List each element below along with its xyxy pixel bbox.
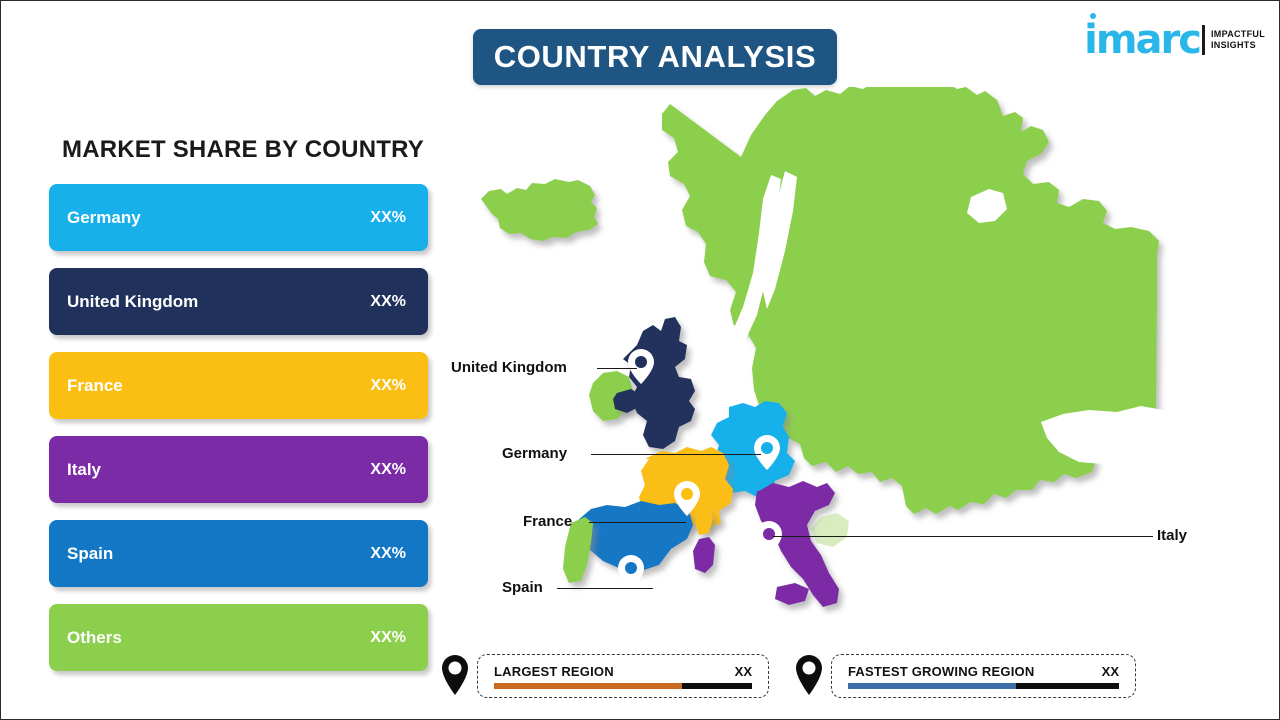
- map-region-united-kingdom: [623, 317, 695, 449]
- callout-france: France: [523, 513, 572, 530]
- largest-region-track: [494, 683, 752, 689]
- logo-tagline-line2: INSIGHTS: [1211, 40, 1265, 51]
- page-title: COUNTRY ANALYSIS: [473, 29, 837, 85]
- callout-germany: Germany: [502, 445, 567, 462]
- list-item-label: United Kingdom: [67, 292, 370, 312]
- list-item-value: XX%: [370, 629, 406, 647]
- logo-tagline-line1: IMPACTFUL: [1211, 29, 1265, 40]
- fastest-growing-region-value: XX: [1102, 664, 1119, 679]
- list-item[interactable]: United Kingdom XX%: [49, 268, 428, 335]
- map-pin-icon: [794, 655, 824, 695]
- logo-divider: [1202, 25, 1205, 55]
- list-item[interactable]: Spain XX%: [49, 520, 428, 587]
- market-share-list: Germany XX% United Kingdom XX% France XX…: [49, 184, 428, 688]
- list-item[interactable]: Germany XX%: [49, 184, 428, 251]
- fastest-growing-region-row: FASTEST GROWING REGION XX: [848, 664, 1119, 679]
- list-item-label: Germany: [67, 208, 370, 228]
- logo-wordmark-text: imarc: [1084, 17, 1200, 63]
- map-pin-icon: [440, 655, 470, 695]
- list-item[interactable]: Others XX%: [49, 604, 428, 671]
- europe-map: [441, 87, 1280, 647]
- market-share-heading: MARKET SHARE BY COUNTRY: [62, 136, 424, 164]
- callout-italy: Italy: [1157, 527, 1187, 544]
- fastest-growing-region-label: FASTEST GROWING REGION: [848, 664, 1034, 679]
- page-title-text: COUNTRY ANALYSIS: [494, 39, 817, 75]
- list-item-value: XX%: [370, 377, 406, 395]
- logo-tagline: IMPACTFUL INSIGHTS: [1211, 29, 1265, 51]
- list-item-label: Others: [67, 628, 370, 648]
- map-water-norway-notch: [691, 321, 737, 351]
- fastest-growing-region-fill: [848, 683, 1016, 689]
- leader-line-spain: [557, 588, 653, 589]
- list-item-label: Italy: [67, 460, 370, 480]
- callout-spain: Spain: [502, 579, 543, 596]
- leader-line-italy: [773, 536, 1153, 537]
- list-item-value: XX%: [370, 461, 406, 479]
- largest-region-fill: [494, 683, 682, 689]
- fastest-growing-region-track: [848, 683, 1119, 689]
- map-pin-icon[interactable]: [618, 555, 644, 590]
- list-item-value: XX%: [370, 209, 406, 227]
- slide-root: COUNTRY ANALYSIS imarc IMPACTFUL INSIGHT…: [0, 0, 1280, 720]
- leader-line-france: [589, 522, 686, 523]
- imarc-logo: imarc IMPACTFUL INSIGHTS: [1084, 17, 1265, 63]
- list-item[interactable]: France XX%: [49, 352, 428, 419]
- list-item[interactable]: Italy XX%: [49, 436, 428, 503]
- list-item-value: XX%: [370, 545, 406, 563]
- callout-united-kingdom: United Kingdom: [451, 359, 567, 376]
- list-item-value: XX%: [370, 293, 406, 311]
- largest-region-value: XX: [735, 664, 752, 679]
- leader-line-germany: [591, 454, 761, 455]
- map-region-iceland: [481, 179, 598, 241]
- logo-wordmark: imarc: [1084, 23, 1200, 57]
- leader-line-united-kingdom: [597, 368, 637, 369]
- fastest-growing-region-badge[interactable]: FASTEST GROWING REGION XX: [831, 654, 1136, 698]
- largest-region-label: LARGEST REGION: [494, 664, 614, 679]
- largest-region-badge[interactable]: LARGEST REGION XX: [477, 654, 769, 698]
- list-item-label: Spain: [67, 544, 370, 564]
- largest-region-row: LARGEST REGION XX: [494, 664, 752, 679]
- list-item-label: France: [67, 376, 370, 396]
